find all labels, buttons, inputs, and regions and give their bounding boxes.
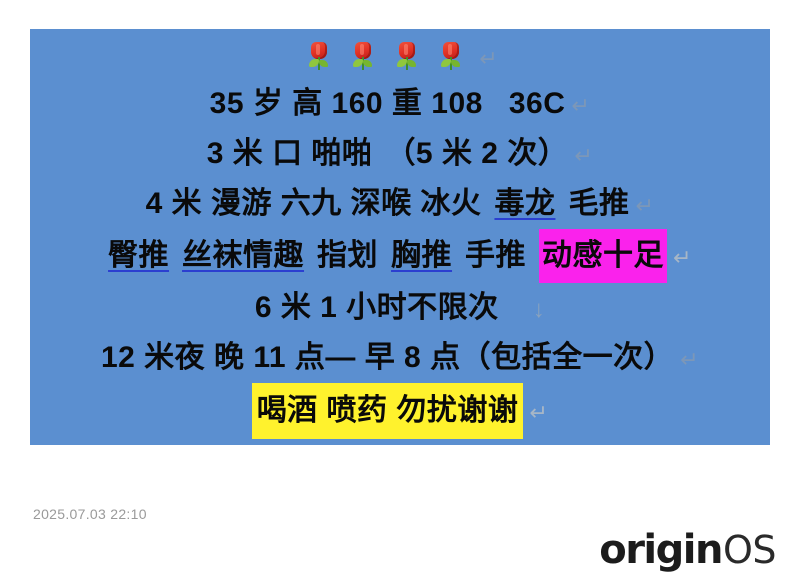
line-3-text-b: 毛推 [568, 179, 629, 229]
text-line-5: 6 米 1 小时不限次 ↓ [255, 283, 545, 333]
line-4-text-c: 指划 [317, 231, 378, 281]
text-line-4: 臀推 丝袜情趣 指划 胸推 手推 动感十足 ↵ [108, 229, 692, 283]
return-mark-icon: ↵ [479, 39, 502, 79]
text-line-3: 4 米 漫游 六九 深喉 冰火 毒龙 毛推 ↵ [146, 179, 655, 229]
screenshot-image-card: ↵ 35 岁 高 160 重 108 36C ↵ 3 米 口 啪啪 （5 米 2… [30, 29, 770, 445]
watermark-brand-primary: origin [599, 527, 722, 573]
rose-emoji [440, 42, 462, 72]
return-mark-icon: ↵ [635, 181, 654, 231]
timestamp-label: 2025.07.03 22:10 [33, 506, 147, 522]
return-mark-icon: ↵ [680, 335, 699, 385]
return-mark-icon: ↵ [529, 388, 548, 438]
line-6-text: 12 米夜 晚 11 点— 早 8 点（包括全一次） [101, 333, 674, 383]
text-line-2: 3 米 口 啪啪 （5 米 2 次） ↵ [207, 129, 594, 179]
down-arrow-icon: ↓ [533, 285, 546, 335]
line-2-text: 3 米 口 啪啪 [207, 129, 373, 179]
line-4-link-term-3[interactable]: 胸推 [391, 231, 452, 281]
text-line-7: 喝酒 喷药 勿扰谢谢 ↵ [252, 383, 549, 439]
rose-emoji [396, 42, 418, 72]
line-4-link-term-1[interactable]: 臀推 [108, 231, 169, 281]
return-mark-icon: ↵ [571, 81, 590, 131]
line-5-text: 6 米 1 小时不限次 [255, 283, 499, 333]
watermark-brand-secondary: OS [723, 528, 776, 572]
line-1-text-b: 36C [509, 79, 566, 129]
return-mark-icon: ↵ [574, 131, 593, 181]
return-mark-icon: ↵ [673, 233, 692, 283]
message-text-block: ↵ 35 岁 高 160 重 108 36C ↵ 3 米 口 啪啪 （5 米 2… [30, 29, 770, 445]
line-3-link-term[interactable]: 毒龙 [494, 179, 555, 229]
rose-emoji [308, 42, 330, 72]
text-line-1: 35 岁 高 160 重 108 36C ↵ [210, 79, 591, 129]
line-4-highlighted-text: 动感十足 [539, 229, 667, 283]
line-1-text: 35 岁 高 160 重 108 [210, 79, 483, 129]
line-4-text-e: 手推 [465, 231, 526, 281]
line-2-text-b: （5 米 2 次） [385, 129, 568, 179]
originos-watermark-logo: origin OS [599, 527, 776, 573]
line-3-text-a: 4 米 漫游 六九 深喉 冰火 [146, 179, 482, 229]
text-line-6: 12 米夜 晚 11 点— 早 8 点（包括全一次） ↵ [101, 333, 699, 383]
rose-emoji [352, 42, 374, 72]
emoji-row: ↵ [297, 35, 502, 79]
line-7-highlighted-text: 喝酒 喷药 勿扰谢谢 [252, 383, 524, 439]
line-4-link-term-2[interactable]: 丝袜情趣 [182, 231, 304, 281]
